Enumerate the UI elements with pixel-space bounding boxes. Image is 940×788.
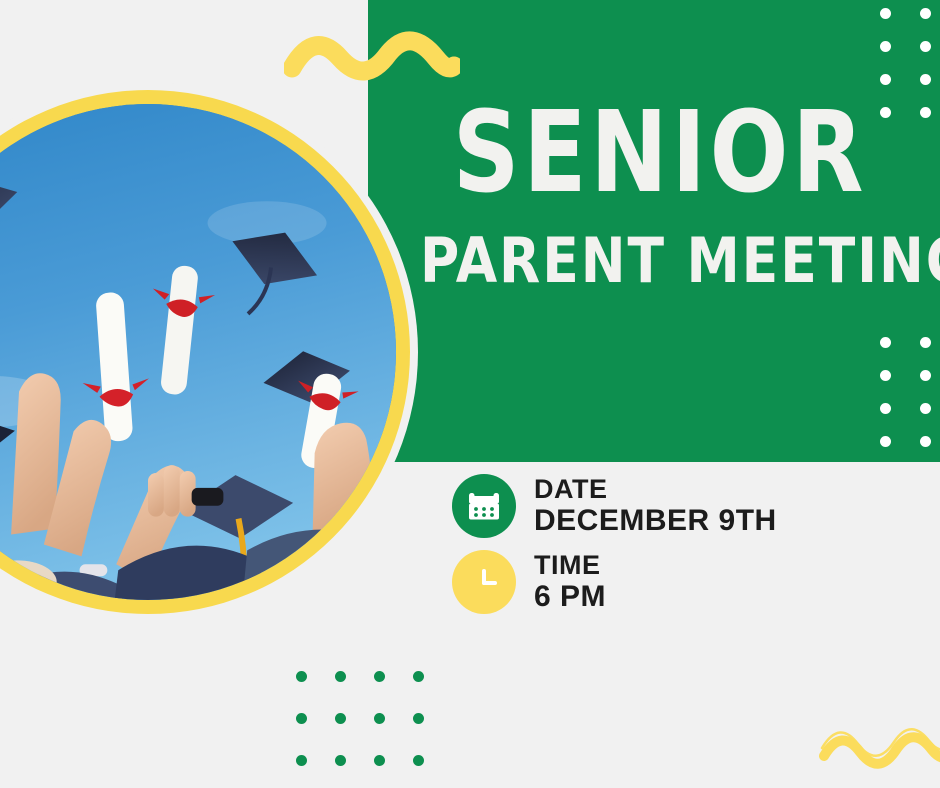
yellow-squiggle-icon-top <box>284 28 460 86</box>
graduation-photo <box>0 104 396 600</box>
event-time-text: TIME 6 PM <box>534 550 606 614</box>
dot <box>880 41 891 52</box>
dot <box>920 403 931 414</box>
dot <box>920 8 931 19</box>
dot <box>920 107 931 118</box>
dot <box>920 74 931 85</box>
dot <box>335 755 346 766</box>
yellow-squiggle-icon-bottom <box>818 718 940 774</box>
dot <box>880 337 891 348</box>
dot <box>296 755 307 766</box>
event-date-text: DATE DECEMBER 9TH <box>534 474 777 538</box>
headline-block: SENIOR PARENT MEETING <box>410 100 910 292</box>
dot <box>374 713 385 724</box>
dot <box>335 713 346 724</box>
dot <box>335 671 346 682</box>
dot <box>880 436 891 447</box>
time-label: TIME <box>534 550 606 580</box>
dot <box>413 671 424 682</box>
dot <box>920 337 931 348</box>
dot <box>880 370 891 381</box>
dot <box>413 755 424 766</box>
dot <box>880 403 891 414</box>
event-time-row: TIME 6 PM <box>452 550 777 614</box>
dot <box>920 436 931 447</box>
dot <box>374 671 385 682</box>
flyer-canvas: SENIOR PARENT MEETING <box>0 0 940 788</box>
dot <box>296 713 307 724</box>
clock-icon <box>452 550 516 614</box>
date-label: DATE <box>534 474 777 504</box>
page-title: SENIOR <box>430 100 890 208</box>
dot <box>880 8 891 19</box>
date-value: DECEMBER 9TH <box>534 504 777 538</box>
green-dot-grid-bottom <box>296 671 452 788</box>
dot <box>296 671 307 682</box>
event-details: DATE DECEMBER 9TH TIME 6 PM <box>452 474 777 626</box>
dot <box>374 755 385 766</box>
event-date-row: DATE DECEMBER 9TH <box>452 474 777 538</box>
time-value: 6 PM <box>534 580 606 614</box>
graduation-photo-frame <box>0 82 418 622</box>
dot <box>413 713 424 724</box>
page-subtitle: PARENT MEETING <box>420 230 900 292</box>
dot <box>920 370 931 381</box>
dot <box>880 74 891 85</box>
white-dot-grid-mid-right <box>880 337 940 469</box>
photo-yellow-ring <box>0 90 410 614</box>
calendar-icon <box>452 474 516 538</box>
dot <box>920 41 931 52</box>
